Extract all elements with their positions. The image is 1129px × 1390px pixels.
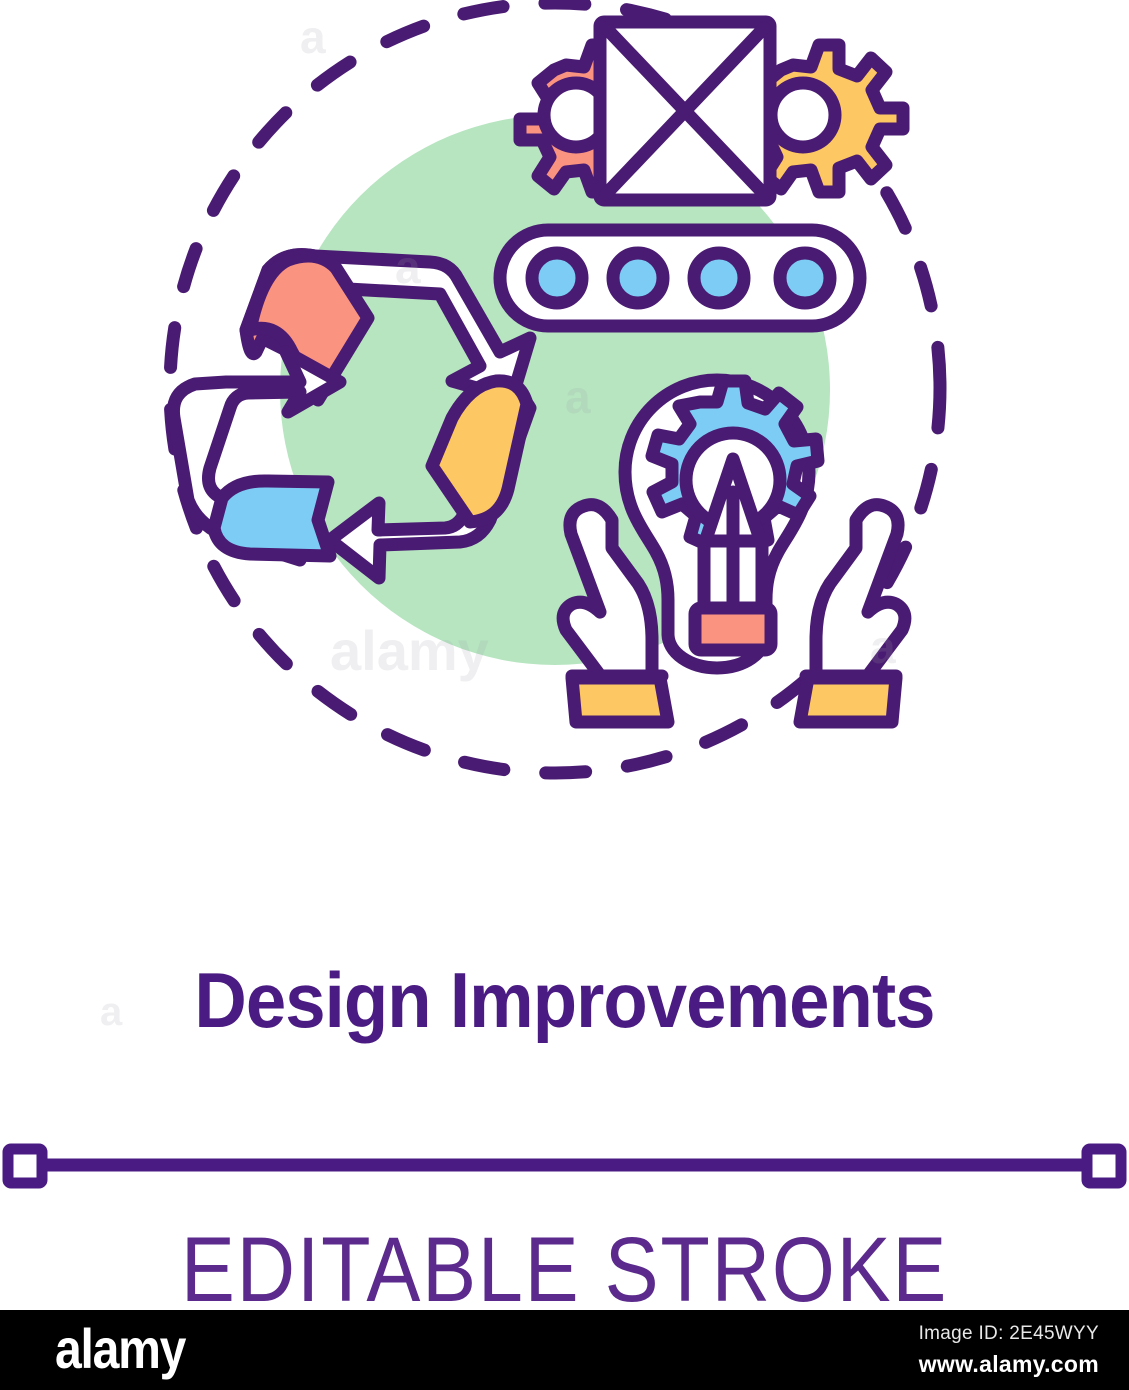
stroke-handle-right[interactable] [1087,1149,1121,1183]
editable-stroke-caption: EDITABLE STROKE [68,1218,1062,1323]
image-placeholder-group [520,22,903,200]
image-id-label: Image ID: 2E45WYY [919,1323,1099,1345]
stroke-line-graphic [0,1120,1129,1220]
conveyor-roller-3 [694,253,744,303]
conveyor-roller-1 [532,253,582,303]
alamy-logo: alamy [55,1320,185,1379]
hand-left-cuff [572,678,668,722]
recycle-sheet-blue [214,481,330,556]
alamy-url-label[interactable]: www.alamy.com [919,1351,1099,1378]
concept-illustration: .ln { fill:none; stroke:#4A1B72; stroke-… [0,0,1129,810]
hand-right-cuff [800,678,896,722]
conveyor-belt [500,230,860,326]
stroke-handle-left[interactable] [8,1149,42,1183]
page-title: Design Improvements [40,955,1090,1046]
hand-right [816,505,905,690]
pencil-eraser [695,608,771,650]
screenshot-canvas: .ln { fill:none; stroke:#4A1B72; stroke-… [0,0,1129,1390]
gear-right-hole [771,83,835,147]
conveyor-roller-2 [613,253,663,303]
conveyor-roller-4 [780,253,830,303]
